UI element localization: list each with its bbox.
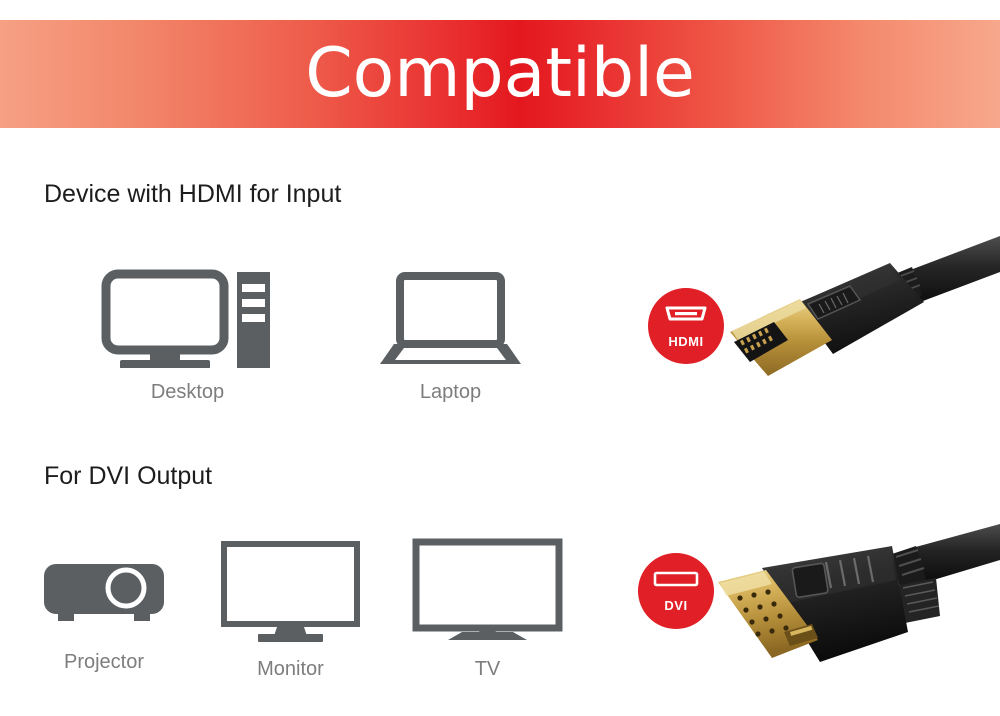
section-heading-hdmi: Device with HDMI for Input bbox=[44, 180, 341, 209]
device-label-projector: Projector bbox=[30, 651, 178, 674]
monitor-icon bbox=[218, 540, 363, 650]
badge-label-dvi: DVI bbox=[664, 598, 687, 613]
device-label-desktop: Desktop bbox=[100, 381, 275, 404]
laptop-icon bbox=[378, 268, 523, 373]
desktop-computer-icon bbox=[100, 268, 275, 373]
device-label-laptop: Laptop bbox=[378, 381, 523, 404]
device-item-projector: Projector bbox=[30, 548, 178, 674]
device-item-desktop: Desktop bbox=[100, 268, 275, 404]
projector-icon bbox=[30, 548, 178, 643]
device-item-laptop: Laptop bbox=[378, 268, 523, 404]
device-label-monitor: Monitor bbox=[218, 658, 363, 681]
dvi-connector-icon bbox=[650, 569, 702, 594]
page-title: Compatible bbox=[305, 40, 695, 108]
hdmi-cable-plug-photo bbox=[700, 228, 1000, 403]
header-banner: Compatible bbox=[0, 20, 1000, 128]
device-item-tv: TV bbox=[410, 538, 565, 681]
television-icon bbox=[410, 538, 565, 650]
badge-label-hdmi: HDMI bbox=[668, 334, 703, 349]
dvi-cable-plug-photo bbox=[700, 512, 1000, 702]
device-item-monitor: Monitor bbox=[218, 540, 363, 681]
section-heading-dvi: For DVI Output bbox=[44, 462, 212, 491]
device-label-tv: TV bbox=[410, 658, 565, 681]
